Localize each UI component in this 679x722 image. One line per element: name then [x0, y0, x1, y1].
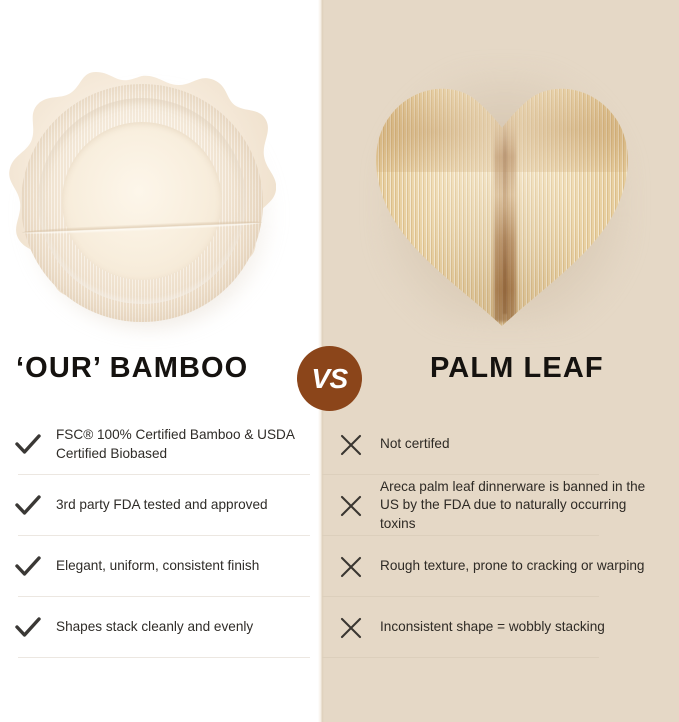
list-item: Areca palm leaf dinnerware is banned in …	[322, 475, 679, 536]
list-item-label: Shapes stack cleanly and evenly	[56, 618, 322, 636]
bamboo-plate-well	[62, 122, 222, 280]
list-item-label: Areca palm leaf dinnerware is banned in …	[380, 478, 679, 533]
list-item: FSC® 100% Certified Bamboo & USDA Certif…	[0, 414, 322, 475]
bamboo-plate-image	[8, 72, 276, 334]
row-divider	[18, 657, 310, 658]
close-icon	[322, 494, 380, 518]
product-images-area	[0, 0, 679, 340]
check-icon-glyph	[15, 434, 41, 456]
check-icon-glyph	[15, 495, 41, 517]
list-item: Shapes stack cleanly and evenly	[0, 597, 322, 658]
check-icon-glyph	[15, 617, 41, 639]
check-icon	[0, 617, 56, 639]
right-column-title: PALM LEAF	[430, 352, 604, 385]
close-icon	[322, 433, 380, 457]
list-item: 3rd party FDA tested and approved	[0, 475, 322, 536]
close-icon-glyph	[339, 555, 363, 579]
check-icon-glyph	[15, 556, 41, 578]
left-benefits-list: FSC® 100% Certified Bamboo & USDA Certif…	[0, 414, 322, 722]
close-icon-glyph	[339, 494, 363, 518]
row-divider	[322, 657, 599, 658]
vs-badge: VS	[297, 346, 362, 411]
close-icon-glyph	[339, 616, 363, 640]
palm-leaf-heart-plate-image	[362, 48, 644, 336]
left-column-title: ‘OUR’ BAMBOO	[16, 352, 248, 385]
comparison-infographic: ‘OUR’ BAMBOO PALM LEAF VS FSC® 100% Cert…	[0, 0, 679, 722]
comparison-lists: FSC® 100% Certified Bamboo & USDA Certif…	[0, 414, 679, 722]
close-icon	[322, 616, 380, 640]
close-icon	[322, 555, 380, 579]
list-item-label: 3rd party FDA tested and approved	[56, 496, 322, 514]
list-item-label: Inconsistent shape = wobbly stacking	[380, 618, 679, 636]
close-icon-glyph	[339, 433, 363, 457]
list-item: Inconsistent shape = wobbly stacking	[322, 597, 679, 658]
list-item: Rough texture, prone to cracking or warp…	[322, 536, 679, 597]
list-item-label: Rough texture, prone to cracking or warp…	[380, 557, 679, 575]
check-icon	[0, 434, 56, 456]
check-icon	[0, 556, 56, 578]
list-item-label: Elegant, uniform, consistent finish	[56, 557, 322, 575]
list-item-label: FSC® 100% Certified Bamboo & USDA Certif…	[56, 426, 322, 462]
check-icon	[0, 495, 56, 517]
list-item: Not certifed	[322, 414, 679, 475]
right-drawbacks-list: Not certifed Areca palm leaf dinnerware …	[322, 414, 679, 722]
list-item-label: Not certifed	[380, 435, 679, 453]
list-item: Elegant, uniform, consistent finish	[0, 536, 322, 597]
